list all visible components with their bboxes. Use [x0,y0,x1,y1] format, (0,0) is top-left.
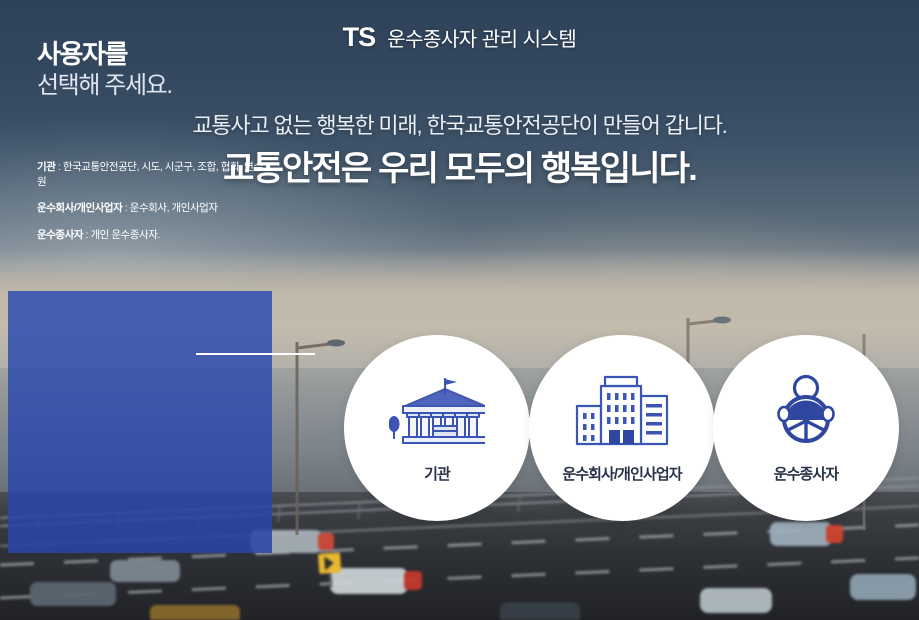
user-type-institution-button[interactable]: 기관 [344,335,530,521]
user-type-choices: 기관 [0,335,919,525]
note-term: 기관 [37,161,55,173]
note-desc: : 개인 운수종사자. [83,229,160,241]
panel-title-line2: 선택해 주세요. [37,71,172,102]
note-item: 운수종사자 : 개인 운수종사자. [37,228,267,243]
panel-title-line1: 사용자를 [37,38,172,71]
note-term: 운수종사자 [37,229,83,241]
office-buildings-icon [575,372,669,446]
note-term: 운수회사/개인사업자 [37,202,122,214]
driver-steering-wheel-icon [771,372,841,446]
site-title: 운수종사자 관리 시스템 [387,23,576,52]
login-user-type-page: TS 운수종사자 관리 시스템 교통사고 없는 행복한 미래, 한국교통안전공단… [0,0,919,620]
user-type-label: 운수회사/개인사업자 [562,463,681,484]
ts-logo: TS [343,22,376,53]
user-type-transport-company-button[interactable]: 운수회사/개인사업자 [529,335,715,521]
note-desc: : 운수회사, 개인사업자 [122,202,217,214]
user-type-driver-button[interactable]: 운수종사자 [713,335,899,521]
hero-subline: 교통사고 없는 행복한 미래, 한국교통안전공단이 만들어 갑니다. [0,112,919,141]
panel-notes: 기관 : 한국교통안전공단, 시도, 시군구, 조합, 협회, 연수원 운수회사… [37,160,267,254]
classical-building-icon [389,372,485,446]
panel-divider-rule [196,353,315,355]
note-item: 운수회사/개인사업자 : 운수회사, 개인사업자 [37,201,267,216]
user-type-label: 기관 [424,463,450,484]
panel-title: 사용자를 선택해 주세요. [37,38,172,102]
user-type-label: 운수종사자 [774,463,839,484]
note-desc: : 한국교통안전공단, 시도, 시군구, 조합, 협회, 연수원 [37,161,263,188]
note-item: 기관 : 한국교통안전공단, 시도, 시군구, 조합, 협회, 연수원 [37,160,267,190]
